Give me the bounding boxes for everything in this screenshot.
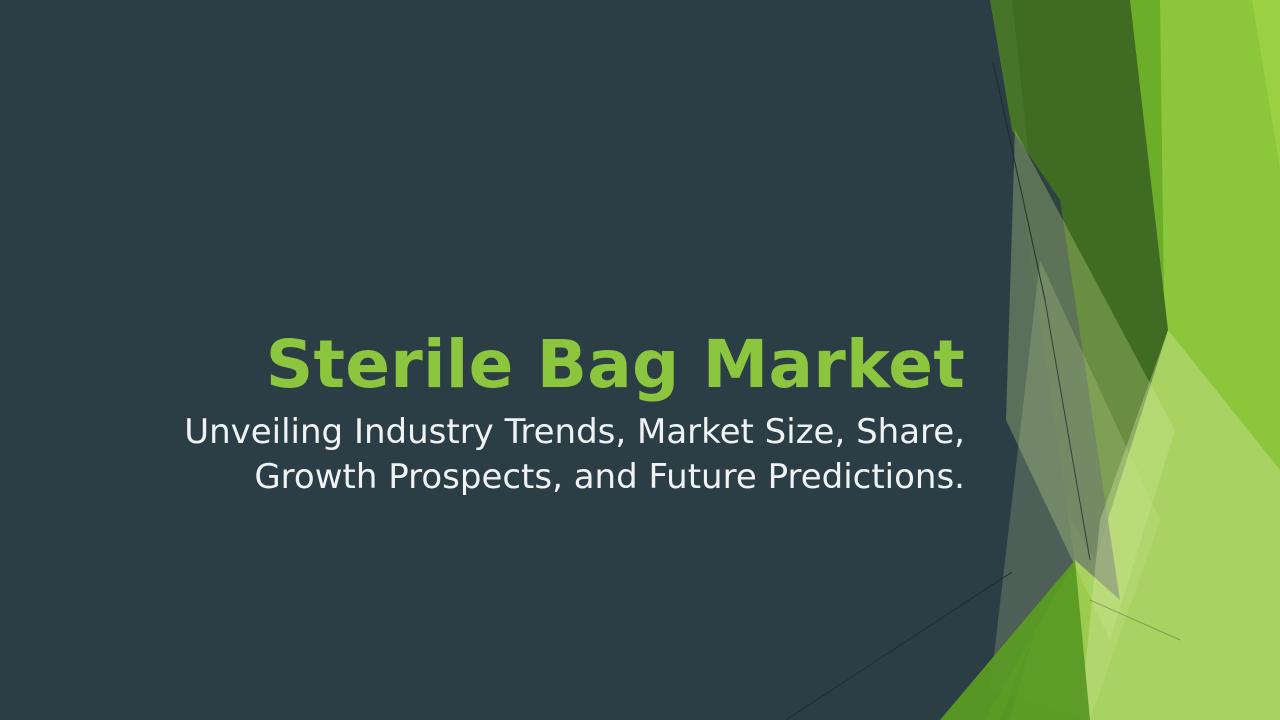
translucent-overlay-triangle-lower bbox=[1080, 330, 1280, 720]
right-dark-olive-band bbox=[962, 0, 1040, 400]
hairline-diagonal-upper bbox=[993, 62, 1045, 300]
right-mid-green-band bbox=[942, 0, 1164, 720]
hairline-diagonal-mid bbox=[1045, 300, 1090, 560]
translucent-overlay-mid bbox=[990, 260, 1160, 720]
hairline-diagonal-bottom-right bbox=[1090, 600, 1180, 640]
navy-overlap-shadow bbox=[1012, 130, 1120, 600]
translucent-overlay-triangle-upper bbox=[1006, 130, 1175, 640]
bottom-green-sliver bbox=[940, 560, 1090, 720]
slide-subtitle: Unveiling Industry Trends, Market Size, … bbox=[175, 410, 965, 500]
page-title: Sterile Bag Market bbox=[0, 330, 965, 400]
right-light-green-band bbox=[1080, 0, 1280, 720]
left-green-wedge bbox=[0, 0, 88, 648]
title-slide: Sterile Bag Market Unveiling Industry Tr… bbox=[0, 0, 1280, 720]
right-olive-band bbox=[962, 0, 1168, 560]
hairline-diagonal-lower bbox=[786, 572, 1012, 720]
right-bright-green-band bbox=[1010, 0, 1280, 720]
title-text-block: Sterile Bag Market Unveiling Industry Tr… bbox=[0, 330, 965, 500]
